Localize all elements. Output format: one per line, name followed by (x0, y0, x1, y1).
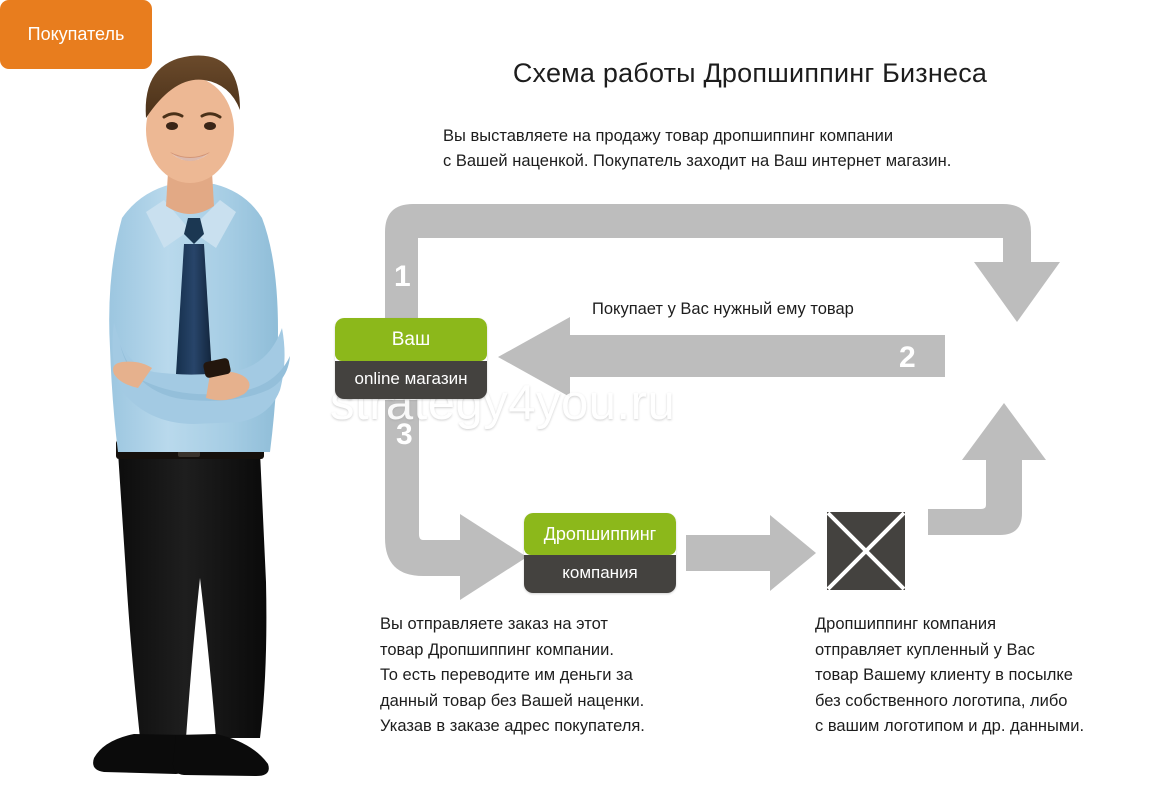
node-drop-cap: Дропшиппинг (524, 513, 676, 555)
node-your-online-shop[interactable]: Ваш online магазин (335, 318, 487, 399)
node-dropshipping-company[interactable]: Дропшиппинг компания (524, 513, 676, 593)
infographic-canvas: Схема работы Дропшиппинг Бизнеса Вы выст… (0, 0, 1170, 797)
step-number-3: 3 (396, 420, 413, 450)
node-shop-cap: Ваш (335, 318, 487, 361)
para-left-line-1: Вы отправляете заказ на этот (380, 612, 645, 638)
node-shop-base: online магазин (335, 361, 487, 399)
step-number-1: 1 (394, 262, 411, 292)
arrow-2-shape (498, 317, 945, 397)
paragraph-right: Дропшиппинг компания отправляет купленны… (815, 612, 1084, 740)
arrow-parcel-shape (686, 515, 816, 591)
paragraph-left: Вы отправляете заказ на этот товар Дропш… (380, 612, 645, 740)
para-right-line-2: отправляет купленный у Вас (815, 638, 1084, 664)
para-right-line-3: товар Вашему клиенту в посылке (815, 663, 1084, 689)
para-left-line-3: То есть переводите им деньги за (380, 663, 645, 689)
para-right-line-1: Дропшиппинг компания (815, 612, 1084, 638)
node-drop-base: компания (524, 555, 676, 593)
step-number-2: 2 (899, 343, 916, 373)
para-right-line-5: с вашим логотипом и др. данными. (815, 714, 1084, 740)
para-left-line-4: данный товар без Вашей наценки. (380, 689, 645, 715)
para-left-line-5: Указав в заказе адрес покупателя. (380, 714, 645, 740)
step-number-4: 4 (941, 534, 958, 564)
arrow-4-shape (928, 403, 1046, 535)
label-buys-product: Покупает у Вас нужный ему товар (592, 300, 854, 319)
parcel-box-icon (826, 511, 906, 591)
para-left-line-2: товар Дропшиппинг компании. (380, 638, 645, 664)
para-right-line-4: без собственного логотипа, либо (815, 689, 1084, 715)
